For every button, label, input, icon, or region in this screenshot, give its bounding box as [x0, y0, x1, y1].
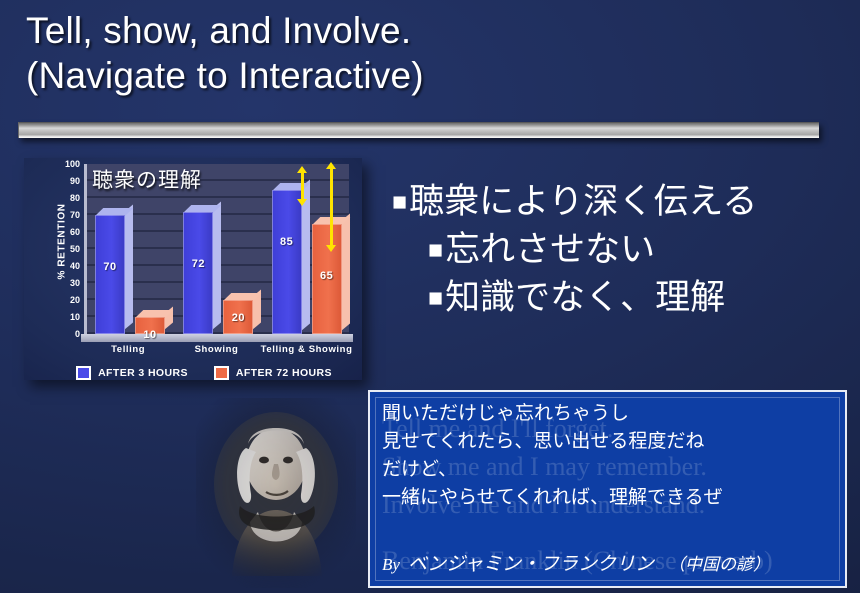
bar-telling-0: 70 — [95, 215, 125, 334]
chart-category-label: Telling & Showing — [261, 344, 349, 355]
legend-swatch — [76, 366, 91, 380]
title-line-1: Tell, show, and Involve. — [26, 8, 826, 53]
bar-value-label: 10 — [135, 329, 165, 341]
bar-showing-0: 72 — [183, 212, 213, 334]
bullet-marker-icon: ■ — [428, 226, 443, 274]
bar-value-label: 72 — [183, 258, 213, 270]
arrow-tall-orange — [330, 168, 333, 246]
bar-group-2: 8565 — [272, 164, 360, 334]
bar-face — [95, 215, 125, 334]
y-tick-100: 100 — [65, 159, 80, 169]
bullet-marker-icon: ■ — [428, 274, 443, 322]
bar-value-label: 70 — [95, 261, 125, 273]
bullet-item-0: ■聴衆により深く伝える — [392, 178, 852, 226]
chart-legend: AFTER 3 HOURSAFTER 72 HOURS — [54, 366, 354, 380]
y-tick-0: 0 — [75, 329, 80, 339]
bullet-text: 聴衆により深く伝える — [409, 178, 757, 226]
quote-line-2: だけど、 — [382, 456, 839, 484]
bar-value-label: 20 — [223, 312, 253, 324]
arrow-short-blue — [301, 172, 304, 200]
quote-line-0: 聞いただけじゃ忘れちゃうし — [382, 400, 839, 428]
bar-side — [341, 213, 350, 330]
quote-line-3: 一緒にやらせてくれれば、理解できるぜ — [382, 484, 839, 512]
chart-y-axis-ticks: 1009080706050403020100 — [54, 164, 80, 334]
chart-category-label: Telling — [84, 344, 172, 355]
benjamin-franklin-portrait — [196, 398, 356, 588]
bullet-text: 忘れさせない — [445, 226, 655, 274]
bullet-text: 知識でなく、理解 — [445, 274, 725, 322]
bullet-marker-icon: ■ — [392, 178, 407, 226]
legend-label: AFTER 72 HOURS — [236, 367, 332, 379]
bar-telling-1: 10 — [135, 317, 165, 334]
title-line-2: (Navigate to Interactive) — [26, 53, 826, 98]
legend-label: AFTER 3 HOURS — [98, 367, 188, 379]
quote-line-1: 見せてくれたら、思い出せる程度だね — [382, 428, 839, 456]
y-tick-30: 30 — [70, 278, 80, 288]
quote-box: Tell me and I'll forget.Show me and I ma… — [368, 390, 847, 588]
bar-side — [212, 201, 221, 330]
bullet-list: ■聴衆により深く伝える■忘れさせない■知識でなく、理解 — [392, 178, 852, 322]
title-separator-bar — [18, 122, 819, 138]
bar-face — [272, 190, 302, 335]
chart-title: 聴衆の理解 — [92, 164, 202, 194]
legend-item: AFTER 3 HOURS — [76, 366, 188, 380]
y-tick-40: 40 — [70, 261, 80, 271]
bar-value-label: 65 — [312, 270, 342, 282]
chart-floor — [81, 334, 353, 342]
bar-side — [124, 204, 133, 330]
y-tick-10: 10 — [70, 312, 80, 322]
y-tick-70: 70 — [70, 210, 80, 220]
y-tick-50: 50 — [70, 244, 80, 254]
y-tick-90: 90 — [70, 176, 80, 186]
bullet-item-1: ■忘れさせない — [392, 226, 852, 274]
bar-value-label: 85 — [272, 236, 302, 248]
y-tick-20: 20 — [70, 295, 80, 305]
bar-face — [183, 212, 213, 334]
bar-showing-1: 20 — [223, 300, 253, 334]
retention-bar-chart: 聴衆の理解 % RETENTION 1009080706050403020100… — [24, 158, 362, 380]
y-tick-60: 60 — [70, 227, 80, 237]
quote-source: （中国の諺） — [668, 552, 770, 578]
chart-category-label: Showing — [172, 344, 260, 355]
bar-telling-&-showing-0: 85 — [272, 190, 302, 335]
page-title: Tell, show, and Involve. (Navigate to In… — [26, 8, 826, 98]
quote-author-name: ベンジャミン・フランクリン — [408, 552, 654, 578]
quote-by-label: By — [382, 552, 400, 578]
legend-swatch — [214, 366, 229, 380]
bullet-item-2: ■知識でなく、理解 — [392, 274, 852, 322]
y-tick-80: 80 — [70, 193, 80, 203]
presentation-slide: Tell, show, and Involve. (Navigate to In… — [0, 0, 860, 593]
bar-telling-&-showing-1: 65 — [312, 224, 342, 335]
quote-japanese-text: 聞いただけじゃ忘れちゃうし見せてくれたら、思い出せる程度だねだけど、一緒にやらせ… — [382, 400, 839, 512]
quote-attribution: By ベンジャミン・フランクリン （中国の諺） — [382, 552, 839, 578]
legend-item: AFTER 72 HOURS — [214, 366, 332, 380]
